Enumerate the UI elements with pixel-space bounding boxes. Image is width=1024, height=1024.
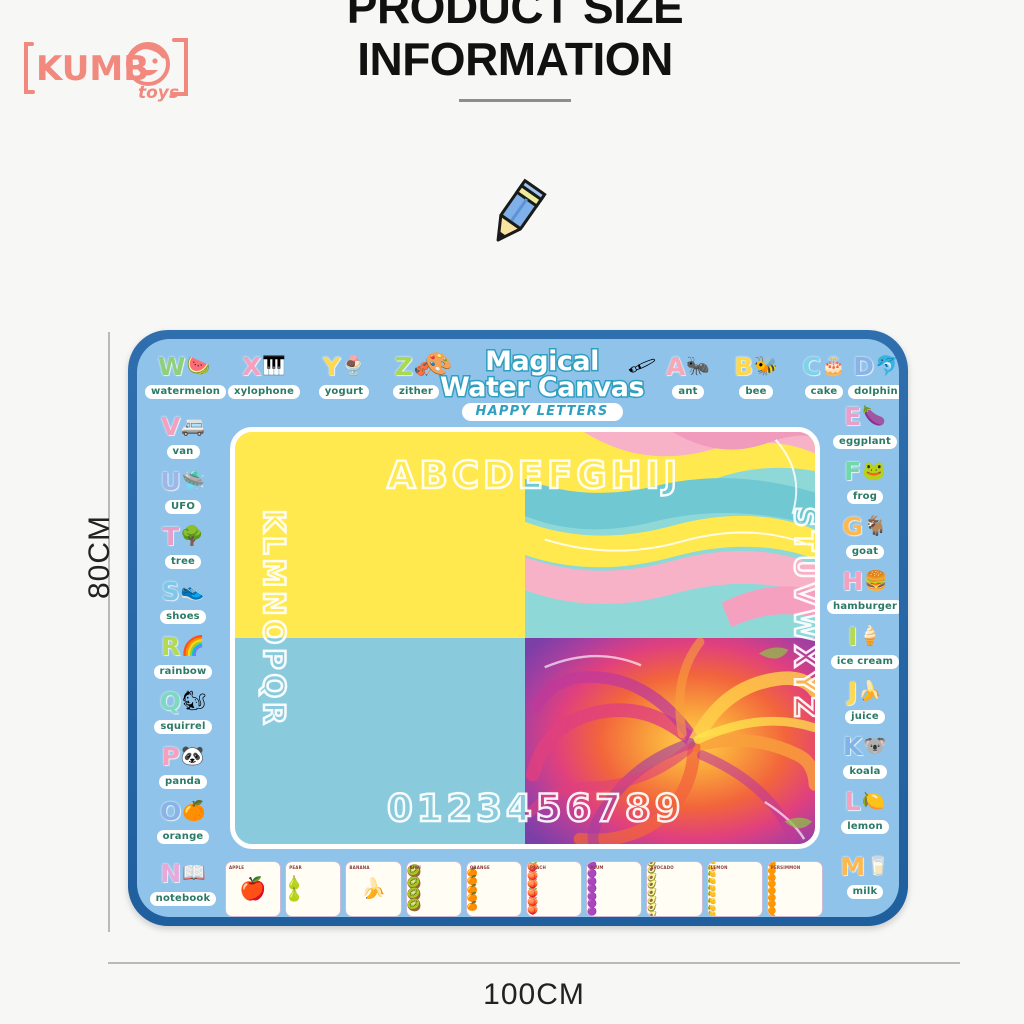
letter-word: notebook	[150, 892, 217, 906]
pear-icon: 🍐🍐	[286, 877, 340, 902]
panda-icon: 🐼	[181, 747, 205, 766]
canvas-quadrant-bottom-right[interactable]	[525, 638, 815, 844]
eggplant-icon: 🍆	[862, 407, 886, 426]
fruit-card: PEACH 🍑🍑🍑🍑🍑🍑	[526, 861, 582, 917]
canvas-quadrant-bottom-left[interactable]	[235, 638, 525, 844]
orange-icon: 🍊	[182, 802, 206, 821]
fruit-card-label: LEMON	[711, 865, 728, 870]
letter-cell-a: A🐜 ant	[649, 351, 727, 399]
banana-icon: 🍌	[361, 879, 386, 899]
fruit-card-label: PLUM	[590, 865, 603, 870]
hamburger-icon: 🍔	[864, 572, 888, 591]
svg-text:toys: toys	[138, 83, 179, 103]
letter-glyph: J	[848, 679, 857, 704]
van-icon: 🚐	[181, 417, 205, 436]
kumbo-toys-logo: KUMB toys	[22, 28, 192, 108]
pencil-icon	[472, 168, 562, 258]
canvas-quadrant-top-right[interactable]	[525, 432, 815, 638]
fruit-card-label: ORANGE	[470, 865, 490, 870]
letter-glyph: E	[844, 404, 861, 429]
rainbow-icon: 🌈	[181, 637, 205, 656]
letter-word: hamburger	[827, 600, 899, 614]
letter-word: shoes	[160, 610, 206, 624]
letter-cell-w: W🍉 watermelon	[145, 351, 223, 399]
letter-glyph: F	[844, 459, 861, 484]
letter-cell-i: I🍦 ice cream	[827, 621, 899, 669]
letter-cell-q: Q🐿 squirrel	[145, 686, 221, 734]
letter-word: watermelon	[145, 385, 226, 399]
bee-icon: 🐝	[754, 357, 778, 376]
page-title-line2: INFORMATION	[280, 34, 750, 86]
letter-word: juice	[845, 710, 885, 724]
letter-glyph: X	[242, 354, 261, 379]
letter-glyph: B	[734, 354, 753, 379]
letter-word: lemon	[841, 820, 889, 834]
product-size-infographic: KUMB toys PRODUCT SIZE INFORMATION	[0, 0, 1024, 1024]
letter-glyph: Q	[160, 689, 181, 714]
letter-glyph: W	[158, 354, 186, 379]
ant-icon: 🐜	[686, 357, 710, 376]
mat-surface: W🍉 watermelon X🎹 xylophone Y🍨 yogurt Z🎻 …	[137, 339, 899, 917]
tree-icon: 🌳	[180, 527, 204, 546]
letter-word: UFO	[165, 500, 201, 514]
fruit-card-row: APPLE 🍎 PEAR 🍐🍐 BANANA 🍌 KIWI 🥝🥝🥝🥝 ORANG	[225, 861, 823, 917]
fruit-card: PLUM 🟣🟣🟣🟣🟣🟣🟣	[586, 861, 642, 917]
letter-word: van	[167, 445, 200, 459]
letter-word: frog	[847, 490, 883, 504]
fruit-card: PEAR 🍐🍐	[285, 861, 341, 917]
kiwi-icon: 🥝🥝🥝🥝	[407, 866, 461, 912]
koala-icon: 🐨	[863, 737, 887, 756]
brand-logo-icon: KUMB toys	[22, 28, 192, 108]
letter-word: goat	[846, 545, 884, 559]
letter-glyph: C	[802, 354, 820, 379]
mat-title-line1: Magical	[432, 349, 652, 375]
letter-cell-v: V🚐 van	[145, 411, 221, 459]
letter-glyph: R	[161, 634, 180, 659]
apple-icon: 🍎	[239, 878, 266, 900]
fruit-card: BANANA 🍌	[345, 861, 401, 917]
fruit-card: APPLE 🍎	[225, 861, 281, 917]
letter-glyph: D	[853, 354, 874, 379]
letter-cell-e: E🍆 eggplant	[827, 401, 899, 449]
xylophone-icon: 🎹	[262, 357, 286, 376]
letter-word: xylophone	[228, 385, 300, 399]
juice-icon: 🍌	[858, 682, 882, 701]
letter-cell-o: O🍊 orange	[145, 796, 221, 844]
letter-word: eggplant	[833, 435, 897, 449]
goat-icon: 🐐	[864, 517, 888, 536]
mat-brand-logo: Magical Water Canvas HAPPY LETTERS	[432, 349, 652, 421]
page-title-line1: PRODUCT SIZE	[280, 0, 750, 34]
height-guide-line	[108, 332, 110, 932]
letter-word: squirrel	[154, 720, 211, 734]
letter-cell-x: X🎹 xylophone	[225, 351, 303, 399]
letter-word: tree	[165, 555, 201, 569]
letter-word: rainbow	[154, 665, 213, 679]
letter-cell-f: F🐸 frog	[827, 456, 899, 504]
letter-word: koala	[843, 765, 886, 779]
letter-cell-r: R🌈 rainbow	[145, 631, 221, 679]
letter-glyph: H	[842, 569, 863, 594]
width-guide-line	[108, 962, 960, 964]
letter-word: yogurt	[319, 385, 370, 399]
letter-cell-n: N📖 notebook	[145, 858, 221, 906]
fruit-card-label: APPLE	[229, 865, 244, 870]
title-divider	[459, 99, 571, 102]
letter-glyph: P	[162, 744, 180, 769]
letter-cell-p: P🐼 panda	[145, 741, 221, 789]
fruit-card-label: KIWI	[410, 865, 421, 870]
letter-cell-s: S👟 shoes	[145, 576, 221, 624]
letter-word: dolphin	[848, 385, 899, 399]
letter-word: orange	[157, 830, 210, 844]
peach-icon: 🍑🍑🍑🍑🍑🍑	[527, 863, 581, 914]
yogurt-icon: 🍨	[342, 357, 366, 376]
letter-glyph: N	[160, 861, 181, 886]
width-dimension-label: 100CM	[108, 978, 960, 1012]
letter-cell-y: Y🍨 yogurt	[305, 351, 383, 399]
water-drawing-mat: W🍉 watermelon X🎹 xylophone Y🍨 yogurt Z🎻 …	[128, 330, 908, 926]
letter-word: ice cream	[831, 655, 899, 669]
letter-cell-j: J🍌 juice	[827, 676, 899, 724]
fruit-card: ORANGE 🍊🍊🍊🍊🍊	[466, 861, 522, 917]
letter-glyph: Y	[323, 354, 341, 379]
letter-glyph: V	[161, 414, 180, 439]
fruit-card-label: AVOCADO	[650, 865, 673, 870]
letter-cell-k: K🐨 koala	[827, 731, 899, 779]
letter-word: ant	[672, 385, 703, 399]
milk-icon: 🥛	[866, 857, 890, 876]
frog-icon: 🐸	[862, 462, 886, 481]
letter-glyph: O	[160, 799, 181, 824]
ice-cream-icon: 🍦	[858, 627, 882, 646]
letter-glyph: M	[840, 854, 865, 879]
shoes-icon: 👟	[181, 582, 205, 601]
letter-glyph: Z	[395, 354, 413, 379]
fruit-card-label: PERSIMMON	[771, 865, 801, 870]
letter-cell-u: U🛸 UFO	[145, 466, 221, 514]
letter-word: bee	[739, 385, 772, 399]
letter-cell-g: G🐐 goat	[827, 511, 899, 559]
letter-glyph: S	[162, 579, 180, 604]
fruit-card-label: BANANA	[349, 865, 369, 870]
mat-title-line2: Water Canvas	[432, 375, 652, 401]
letter-glyph: U	[161, 469, 181, 494]
fruit-card: AVOCADO 🥑🥑🥑🥑🥑🥑🥑🥑	[646, 861, 702, 917]
fruit-card: PERSIMMON 🟠🟠🟠🟠🟠🟠🟠🟠🟠🟠	[767, 861, 823, 917]
fruit-card: LEMON 🍋🍋🍋🍋🍋🍋🍋🍋🍋	[707, 861, 763, 917]
squirrel-icon: 🐿	[182, 692, 206, 711]
letter-cell-h: H🍔 hamburger	[827, 566, 899, 614]
notebook-icon: 📖	[182, 864, 206, 883]
page-title: PRODUCT SIZE INFORMATION	[280, 0, 750, 102]
mat-subtitle: HAPPY LETTERS	[462, 403, 623, 421]
letter-glyph: K	[843, 734, 862, 759]
letter-cell-m: M🥛 milk	[827, 851, 899, 899]
letter-glyph: L	[845, 789, 861, 814]
fruit-card-label: PEAR	[289, 865, 302, 870]
canvas-quadrant-top-left[interactable]	[235, 432, 525, 638]
lemon-icon: 🍋	[862, 792, 886, 811]
plum-icon: 🟣🟣🟣🟣🟣🟣🟣	[587, 862, 641, 915]
fruit-card: KIWI 🥝🥝🥝🥝	[406, 861, 462, 917]
fruit-card-label: PEACH	[530, 865, 546, 870]
letter-word: milk	[847, 885, 884, 899]
letter-glyph: A	[666, 354, 685, 379]
orange-icon: 🍊🍊🍊🍊🍊	[467, 868, 521, 911]
letter-cell-t: T🌳 tree	[145, 521, 221, 569]
letter-word: panda	[159, 775, 207, 789]
watermelon-icon: 🍉	[186, 357, 210, 376]
drawing-canvas[interactable]: ABCDEFGHIJ 0123456789 KLMNOPQR STUVWXYZ	[230, 427, 820, 849]
letter-cell-d: D🐬 dolphin	[837, 351, 899, 399]
letter-cell-b: B🐝 bee	[717, 351, 795, 399]
letter-glyph: G	[842, 514, 863, 539]
dolphin-icon: 🐬	[875, 357, 899, 376]
ufo-icon: 🛸	[182, 472, 206, 491]
letter-glyph: I	[848, 624, 857, 649]
height-dimension-label: 80CM	[83, 497, 117, 617]
letter-glyph: T	[162, 524, 179, 549]
letter-cell-l: L🍋 lemon	[827, 786, 899, 834]
